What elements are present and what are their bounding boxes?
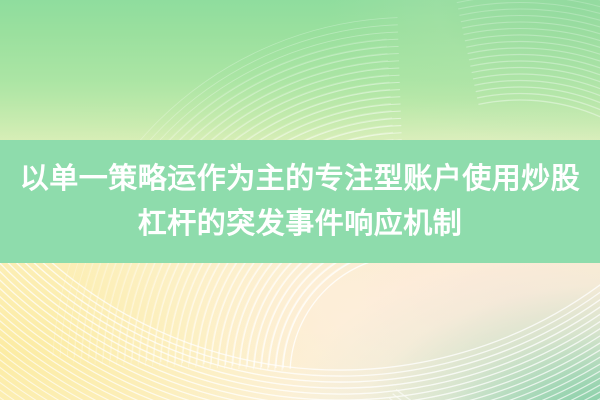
page-title: 以单一策略运作为主的专注型账户使用炒股杠杆的突发事件响应机制 — [10, 157, 590, 247]
title-band: 以单一策略运作为主的专注型账户使用炒股杠杆的突发事件响应机制 — [0, 140, 600, 263]
banner: 以单一策略运作为主的专注型账户使用炒股杠杆的突发事件响应机制 — [0, 0, 600, 400]
